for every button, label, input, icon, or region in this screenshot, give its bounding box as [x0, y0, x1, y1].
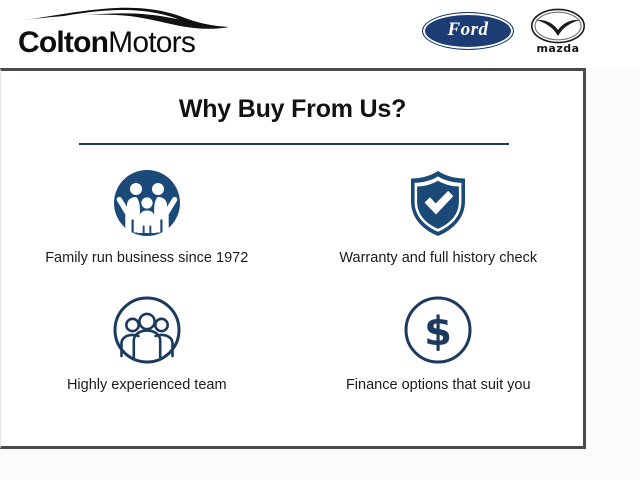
- feature-item-warranty: Warranty and full history check: [293, 159, 585, 268]
- feature-item-finance: $ Finance options that suit you: [293, 286, 585, 395]
- family-icon: [111, 167, 183, 239]
- brand-name-bold: Colton: [18, 26, 108, 59]
- feature-caption: Highly experienced team: [39, 375, 254, 395]
- shield-check-icon: [402, 167, 474, 239]
- page-title: Why Buy From Us?: [1, 95, 584, 124]
- feature-grid: Family run business since 1972 Warranty …: [1, 159, 584, 395]
- feature-item-team: Highly experienced team: [1, 286, 293, 395]
- feature-caption: Warranty and full history check: [331, 248, 546, 268]
- title-divider: [79, 143, 509, 145]
- feature-caption: Family run business since 1972: [39, 248, 254, 268]
- mazda-wordmark: mazda: [527, 42, 589, 55]
- page-header: ColtonMotors Ford mazda: [0, 0, 640, 68]
- mazda-wings-icon: [530, 8, 586, 44]
- feature-caption: Finance options that suit you: [331, 375, 546, 395]
- ford-logo[interactable]: Ford: [422, 12, 514, 50]
- dollar-icon: $: [402, 294, 474, 366]
- why-buy-panel: Why Buy From Us? Family run business sin…: [0, 68, 586, 449]
- colton-motors-logo[interactable]: ColtonMotors: [14, 4, 254, 64]
- feature-item-family: Family run business since 1972: [1, 159, 293, 268]
- ford-label: Ford: [422, 12, 514, 50]
- brand-name-light: Motors: [108, 26, 195, 59]
- team-icon: [111, 294, 183, 366]
- mazda-logo[interactable]: mazda: [527, 8, 589, 58]
- colton-motors-wordmark: ColtonMotors: [18, 26, 195, 60]
- svg-text:$: $: [424, 309, 452, 355]
- row-spacer: [1, 268, 584, 286]
